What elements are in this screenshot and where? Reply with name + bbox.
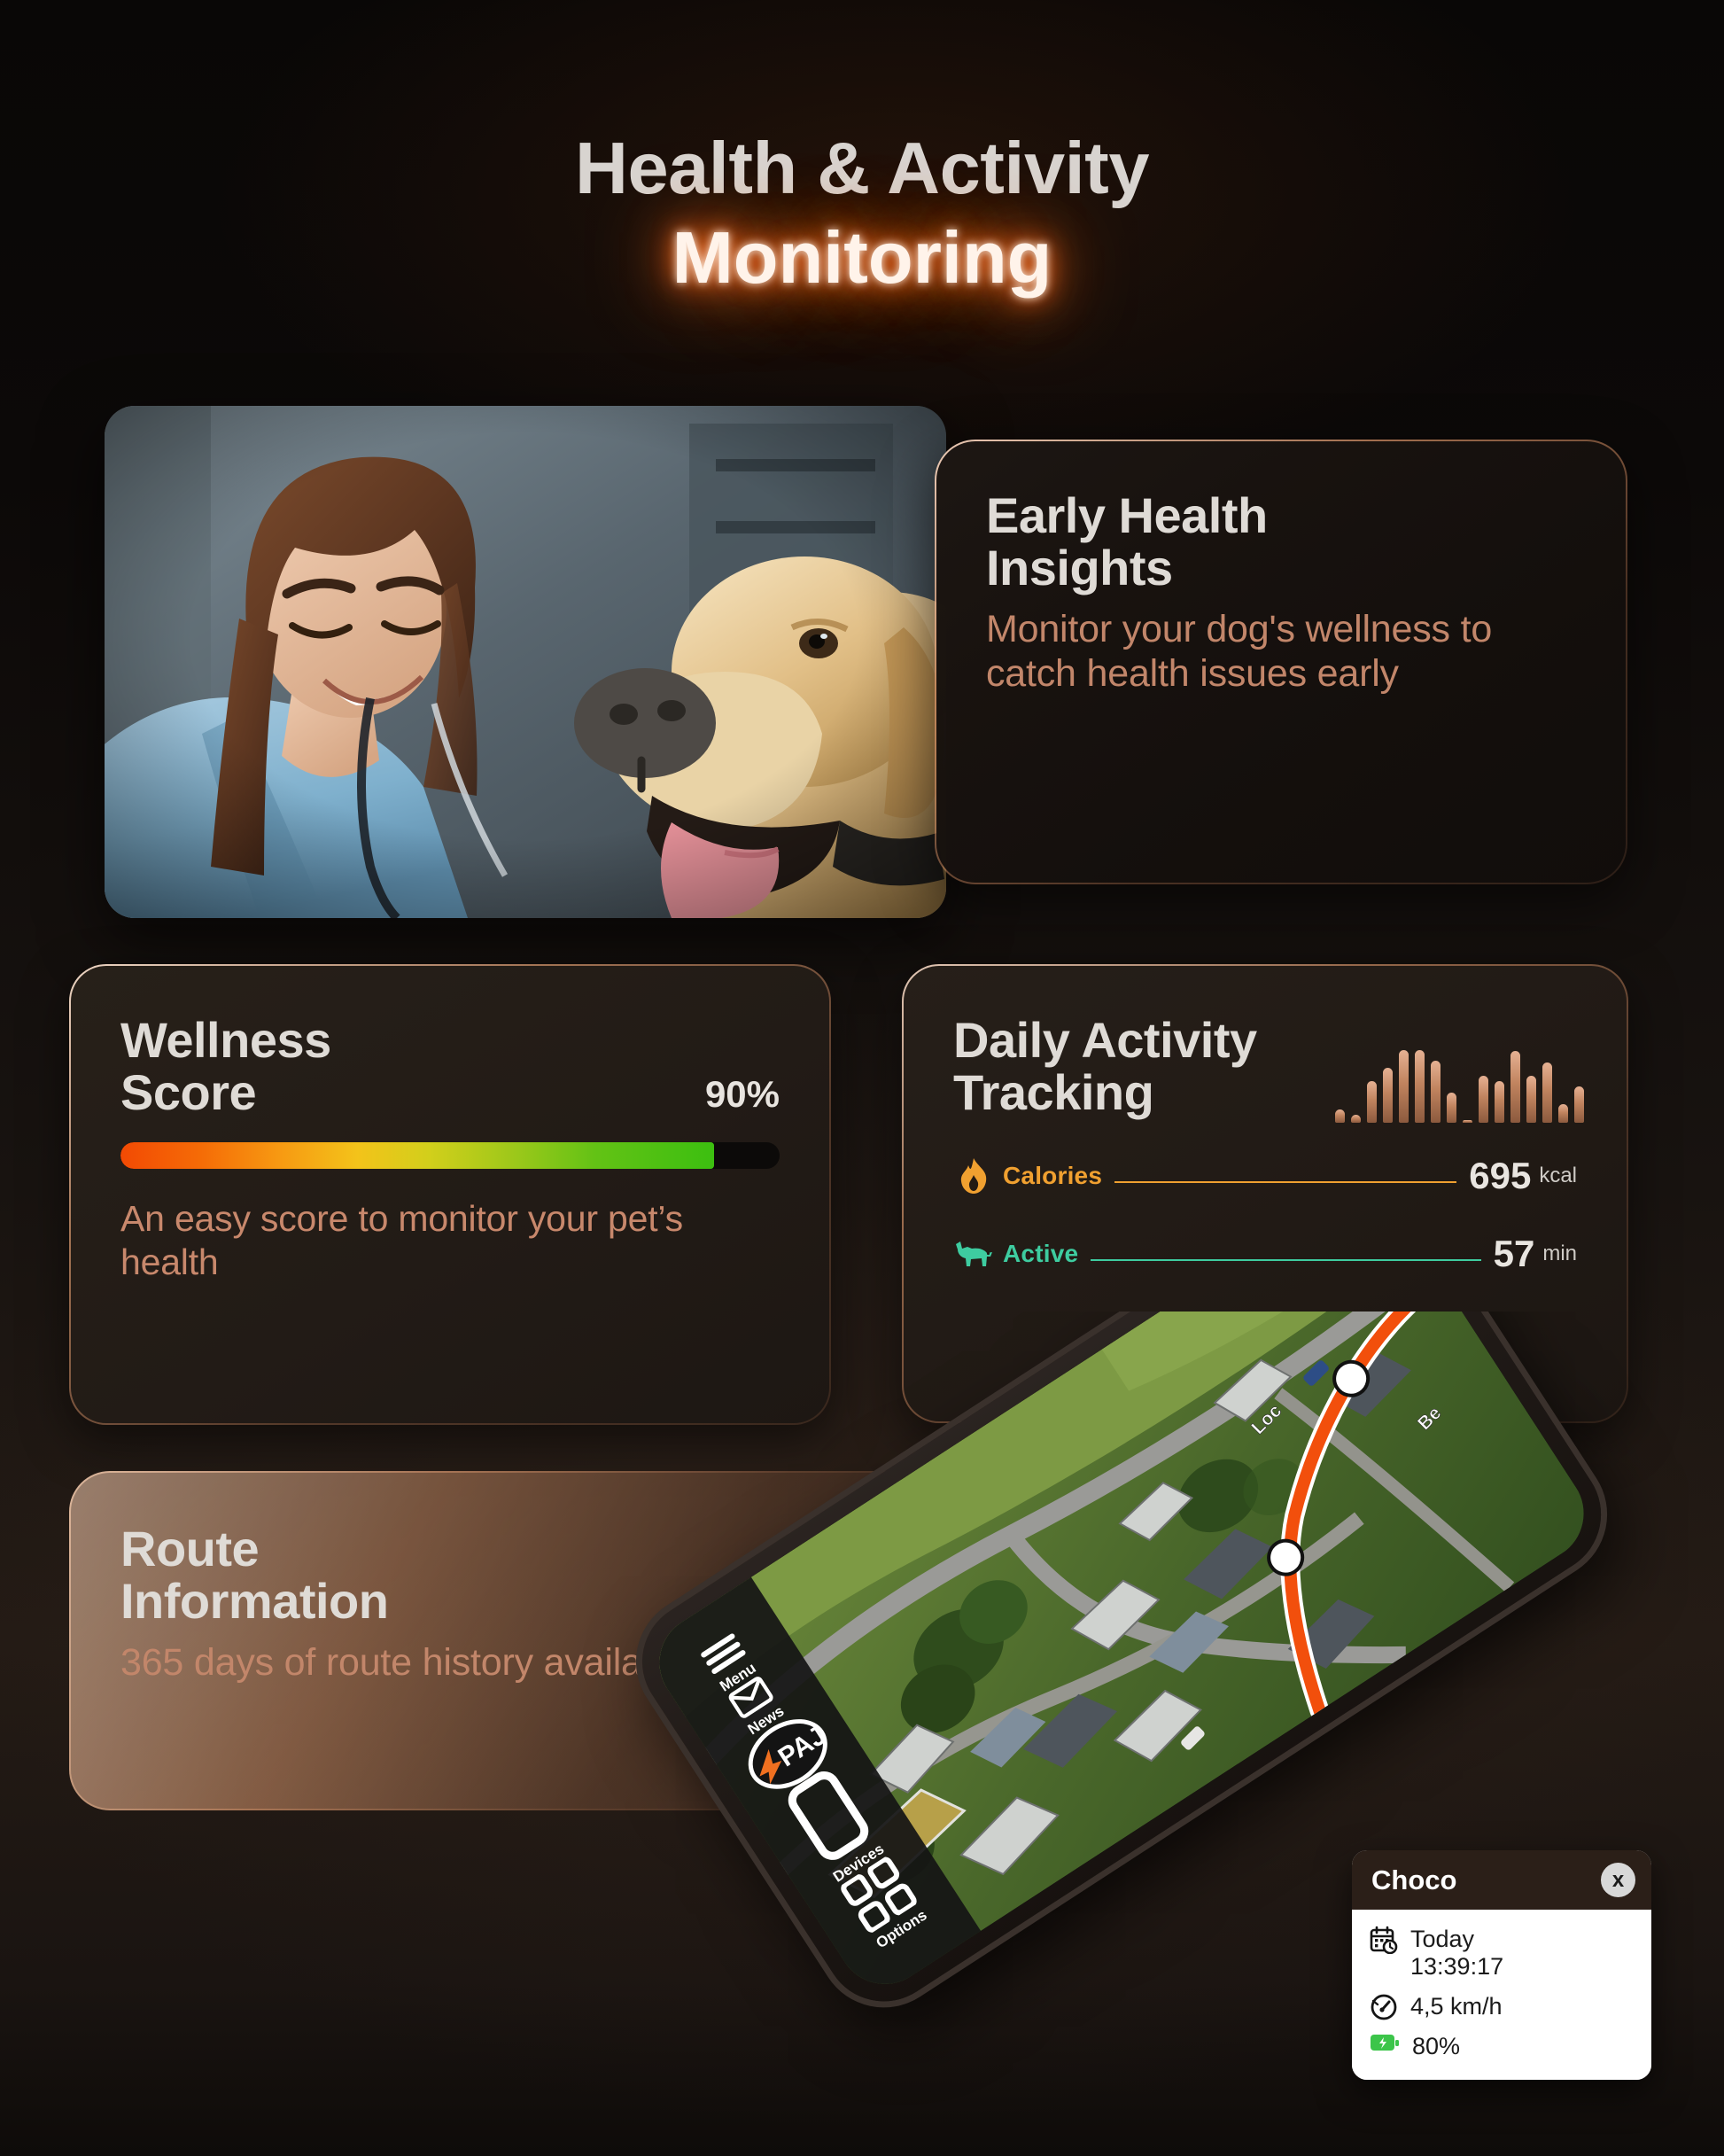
page-title: Health & Activity Monitoring: [0, 131, 1724, 294]
nav-item-options[interactable]: Options: [830, 1849, 939, 1958]
popup-battery-text: 80%: [1412, 2033, 1460, 2060]
speedometer-icon: [1370, 1993, 1398, 2021]
grid-icon: [830, 1849, 928, 1940]
activity-bar: [1351, 1115, 1361, 1123]
nav-label-devices: Devices: [830, 1841, 888, 1887]
route-title-line1: Route: [120, 1522, 944, 1575]
wellness-header: Wellness Score 90%: [120, 1014, 780, 1119]
popup-row-date: Today 13:39:17: [1370, 1926, 1634, 1981]
popup-header: Choco x: [1352, 1850, 1651, 1910]
title-line-primary: Health & Activity: [0, 131, 1724, 205]
activity-bar: [1415, 1050, 1425, 1123]
metric-rule-calories: [1114, 1181, 1456, 1183]
promo-page: Health & Activity Monitoring: [0, 0, 1724, 2156]
route-description: 365 days of route history available: [120, 1640, 944, 1685]
activity-bar: [1542, 1062, 1552, 1123]
early-health-title-line1: Early Health: [986, 489, 1576, 541]
activity-bar: [1447, 1093, 1456, 1123]
activity-bar: [1526, 1076, 1536, 1123]
wellness-title-line2: Score: [120, 1066, 331, 1118]
popup-date-line1: Today: [1410, 1926, 1503, 1953]
activity-bar: [1335, 1109, 1345, 1123]
vet-and-dog-photo: [105, 406, 946, 918]
activity-bar: [1463, 1120, 1472, 1123]
route-title-line2: Information: [120, 1575, 944, 1627]
wellness-score-card: Wellness Score 90% An easy score to moni…: [69, 964, 831, 1425]
metric-value-calories: 695: [1469, 1155, 1531, 1197]
metric-row-calories: Calories 695 kcal: [953, 1155, 1577, 1197]
metric-value-active: 57: [1494, 1233, 1535, 1275]
popup-body: Today 13:39:17 4,5 km/h: [1352, 1910, 1651, 2080]
route-information-card: Route Information 365 days of route hist…: [69, 1471, 996, 1810]
popup-row-speed: 4,5 km/h: [1370, 1993, 1634, 2021]
wellness-description: An easy score to monitor your pet’s heal…: [120, 1197, 780, 1284]
activity-bar: [1431, 1061, 1441, 1123]
activity-bar: [1479, 1076, 1488, 1123]
popup-speed-text: 4,5 km/h: [1410, 1993, 1503, 2020]
wellness-progress-fill: [120, 1142, 714, 1169]
metric-unit-active: min: [1542, 1241, 1577, 1266]
tracker-popup[interactable]: Choco x: [1352, 1850, 1651, 2080]
popup-row-battery: 80%: [1370, 2033, 1634, 2060]
activity-bar: [1574, 1086, 1584, 1123]
daily-activity-card: Daily Activity Tracking Calories 695 kca…: [902, 964, 1628, 1423]
early-health-description: Monitor your dog's wellness to catch hea…: [986, 607, 1576, 697]
dog-icon: [953, 1238, 994, 1270]
wellness-percent-label: 90%: [705, 1073, 780, 1119]
early-health-title-line2: Insights: [986, 541, 1576, 594]
popup-title: Choco: [1371, 1864, 1456, 1896]
metric-row-active: Active 57 min: [953, 1233, 1577, 1275]
battery-icon: [1370, 2033, 1400, 2052]
early-health-insights-card: Early Health Insights Monitor your dog's…: [935, 440, 1627, 884]
activity-bar: [1495, 1081, 1504, 1123]
flame-icon: [953, 1157, 994, 1195]
wellness-title-line1: Wellness: [120, 1014, 331, 1066]
popup-date-text: Today 13:39:17: [1410, 1926, 1503, 1981]
metric-label-calories: Calories: [1003, 1162, 1102, 1190]
close-icon[interactable]: x: [1601, 1863, 1635, 1897]
activity-header: Daily Activity Tracking: [953, 1014, 1577, 1119]
popup-date-line2: 13:39:17: [1410, 1953, 1503, 1981]
metric-rule-active: [1091, 1259, 1480, 1261]
activity-bar: [1367, 1081, 1377, 1123]
wellness-progress-track: [120, 1142, 780, 1169]
activity-bar: [1510, 1051, 1520, 1123]
activity-bar: [1399, 1050, 1409, 1123]
metric-unit-calories: kcal: [1539, 1164, 1577, 1188]
activity-bar-chart: [1335, 1050, 1584, 1123]
activity-bar: [1383, 1068, 1393, 1123]
nav-label-options: Options: [873, 1906, 930, 1952]
activity-bar: [1558, 1104, 1568, 1123]
title-line-highlight: Monitoring: [0, 221, 1724, 294]
metric-label-active: Active: [1003, 1240, 1078, 1268]
calendar-clock-icon: [1370, 1926, 1398, 1954]
